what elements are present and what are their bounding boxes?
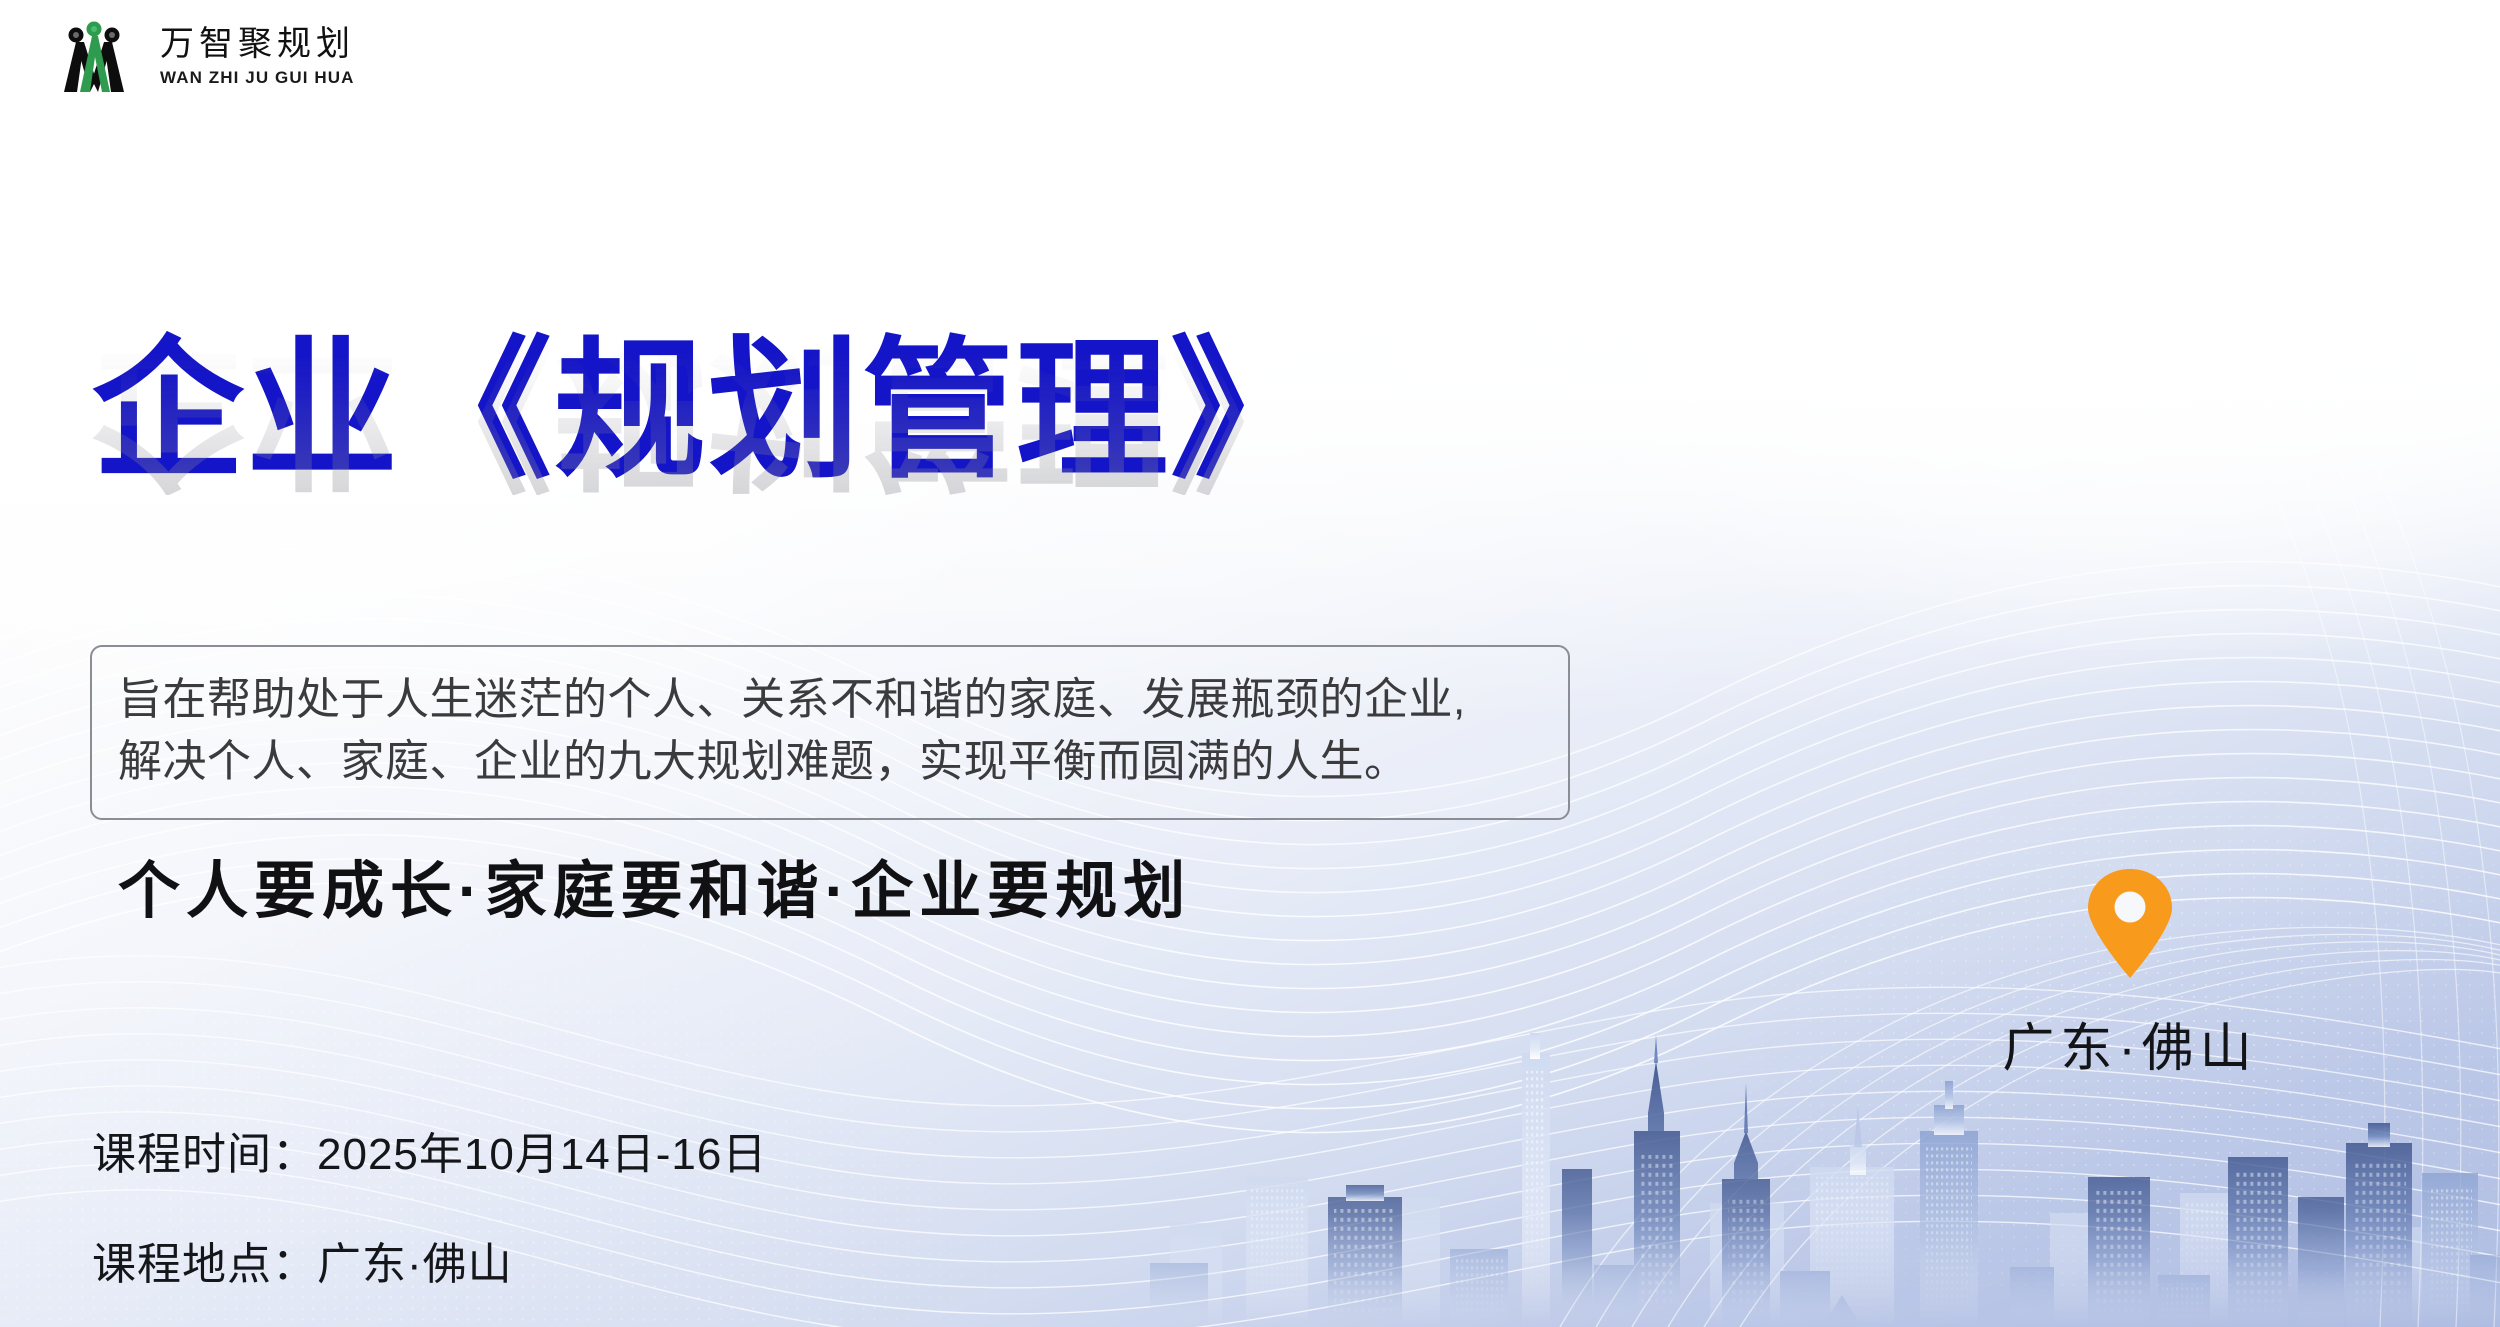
course-place: 课程地点：广东·佛山: [92, 1228, 767, 1292]
location-badge: 广东·佛山: [1960, 868, 2300, 1081]
title-block: 企业《规划管理》 企业《规划管理》: [92, 332, 1692, 490]
description-line-2: 解决个人、家庭、企业的九大规划难题，实现平衡而圆满的人生。: [118, 731, 1542, 793]
description-box: 旨在帮助处于人生迷茫的个人、关系不和谐的家庭、发展瓶颈的企业, 解决个人、家庭、…: [90, 645, 1570, 820]
poster-canvas: 万智聚规划 WAN ZHI JU GUI HUA 企业《规划管理》 企业《规划管…: [0, 0, 2500, 1327]
three-people-logo-icon: [46, 18, 142, 96]
brand-logo[interactable]: 万智聚规划 WAN ZHI JU GUI HUA: [46, 18, 355, 96]
slogan-text: 个人要成长·家庭要和谐·企业要规划: [118, 840, 1191, 930]
course-info-block: 课程时间：2025年10月14日-16日 课程地点：广东·佛山: [92, 1118, 767, 1292]
map-pin-icon: [2084, 868, 2176, 980]
location-label: 广东·佛山: [1960, 1006, 2300, 1081]
course-time: 课程时间：2025年10月14日-16日: [92, 1118, 767, 1182]
brand-logo-text: 万智聚规划 WAN ZHI JU GUI HUA: [160, 28, 355, 86]
brand-name-cn: 万智聚规划: [160, 28, 355, 62]
description-line-1: 旨在帮助处于人生迷茫的个人、关系不和谐的家庭、发展瓶颈的企业,: [118, 669, 1542, 731]
brand-name-en: WAN ZHI JU GUI HUA: [160, 69, 355, 86]
page-title: 企业《规划管理》: [92, 332, 1692, 490]
